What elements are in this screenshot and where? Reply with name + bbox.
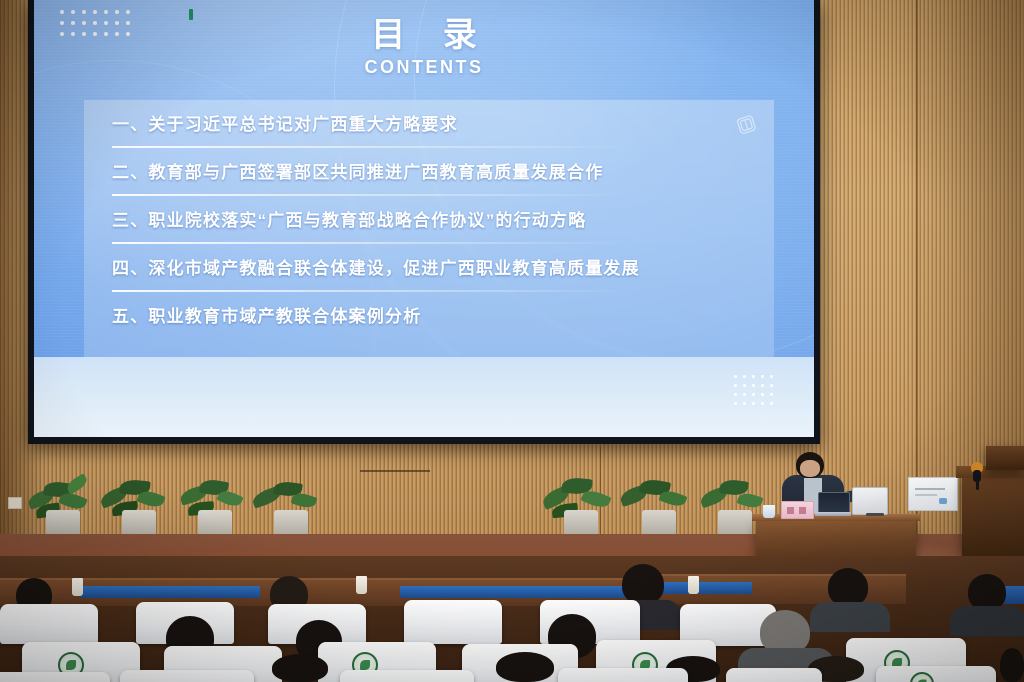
lectern-upper bbox=[986, 446, 1024, 470]
audience-shoulders bbox=[810, 602, 890, 632]
white-chair-cover[interactable] bbox=[726, 668, 822, 682]
name-placard bbox=[781, 501, 814, 519]
audience-head bbox=[1000, 648, 1024, 682]
toc-item: 五、职业教育市域产教联合体案例分析 bbox=[112, 300, 752, 348]
audience-head bbox=[496, 652, 554, 682]
slide-title-cn: 目 录 bbox=[34, 18, 814, 54]
toc-divider bbox=[112, 146, 632, 148]
white-chair-cover[interactable] bbox=[120, 670, 254, 682]
toc-item-label: 职业教育市域产教联合体案例分析 bbox=[148, 307, 421, 326]
toc-item-text: 一、关于习近平总书记对广西重大方略要求 bbox=[112, 110, 458, 135]
wall-outlet-plate[interactable] bbox=[8, 497, 22, 509]
toc-item-index: 三、 bbox=[112, 211, 148, 230]
audience-head bbox=[968, 574, 1006, 610]
toc-item-label: 职业院校落实“广西与教育部战略合作协议”的行动方略 bbox=[148, 211, 586, 230]
lectern bbox=[962, 474, 1024, 560]
slide-toc-list: 一、关于习近平总书记对广西重大方略要求 二、教育部与广西签署部区共同推进广西教育… bbox=[112, 108, 752, 348]
white-chair-cover[interactable] bbox=[0, 604, 98, 644]
white-chair-cover[interactable] bbox=[340, 670, 474, 682]
desk-light-strip bbox=[400, 586, 640, 598]
desk-light-strip bbox=[660, 582, 752, 594]
toc-item: 三、职业院校落实“广西与教育部战略合作协议”的行动方略 bbox=[112, 204, 752, 252]
toc-divider bbox=[112, 242, 632, 244]
white-chair-cover[interactable] bbox=[404, 600, 502, 644]
white-chair-cover[interactable] bbox=[558, 668, 688, 682]
toc-item-index: 四、 bbox=[112, 259, 148, 278]
drinking-cup[interactable] bbox=[763, 505, 775, 518]
audience-head bbox=[622, 564, 664, 604]
toc-item-label: 关于习近平总书记对广西重大方略要求 bbox=[148, 115, 457, 134]
presentation-slide: 目 录 CONTENTS 一、关于习近平总书记对广西重大方略要求 二、教育部与 bbox=[34, 0, 814, 437]
mountain-sky bbox=[34, 357, 814, 437]
white-chair-cover[interactable] bbox=[876, 666, 996, 682]
toc-item: 二、教育部与广西签署部区共同推进广西教育高质量发展合作 bbox=[112, 156, 752, 204]
institution-emblem bbox=[910, 672, 934, 682]
seated-audience bbox=[0, 556, 1024, 682]
desk-cable bbox=[866, 513, 884, 516]
toc-item-index: 五、 bbox=[112, 307, 148, 326]
toc-item-text: 二、教育部与广西签署部区共同推进广西教育高质量发展合作 bbox=[112, 158, 603, 183]
presenter-face bbox=[800, 460, 820, 477]
karst-mountain-landscape bbox=[34, 357, 814, 437]
toc-item-index: 二、 bbox=[112, 163, 148, 182]
toc-item-label: 深化市域产教融合联合体建设，促进广西职业教育高质量发展 bbox=[148, 259, 639, 278]
wall-baseboard-line bbox=[360, 470, 430, 472]
paper-cup[interactable] bbox=[688, 576, 699, 594]
toc-item: 四、深化市域产教融合联合体建设，促进广西职业教育高质量发展 bbox=[112, 252, 752, 300]
audience-head bbox=[272, 654, 328, 682]
paper-cup[interactable] bbox=[72, 578, 83, 596]
slide-title-en: CONTENTS bbox=[34, 57, 814, 78]
dot-grid-decoration bbox=[734, 375, 773, 405]
conference-hall-scene: 目 录 CONTENTS 一、关于习近平总书记对广西重大方略要求 二、教育部与 bbox=[0, 0, 1024, 682]
toc-divider bbox=[112, 194, 632, 196]
confidence-monitor[interactable] bbox=[852, 487, 888, 515]
paper-cup[interactable] bbox=[356, 576, 367, 594]
desk-light-strip bbox=[80, 586, 260, 598]
toc-item-text: 五、职业教育市域产教联合体案例分析 bbox=[112, 302, 421, 327]
toc-item: 一、关于习近平总书记对广西重大方略要求 bbox=[112, 108, 752, 156]
toc-item-index: 一、 bbox=[112, 115, 148, 134]
audience-shoulders bbox=[950, 606, 1024, 636]
audience-head bbox=[828, 568, 868, 606]
microphone-body[interactable] bbox=[973, 470, 981, 482]
toc-item-text: 四、深化市域产教融合联合体建设，促进广西职业教育高质量发展 bbox=[112, 254, 640, 279]
wall-seam bbox=[916, 0, 918, 560]
wall-sign bbox=[908, 477, 958, 511]
toc-divider bbox=[112, 290, 632, 292]
white-chair-cover[interactable] bbox=[0, 672, 110, 682]
toc-item-label: 教育部与广西签署部区共同推进广西教育高质量发展合作 bbox=[148, 163, 603, 182]
laptop-base[interactable] bbox=[815, 512, 851, 516]
slide-title-block: 目 录 CONTENTS bbox=[34, 18, 814, 78]
toc-item-text: 三、职业院校落实“广西与教育部战略合作协议”的行动方略 bbox=[112, 206, 586, 231]
